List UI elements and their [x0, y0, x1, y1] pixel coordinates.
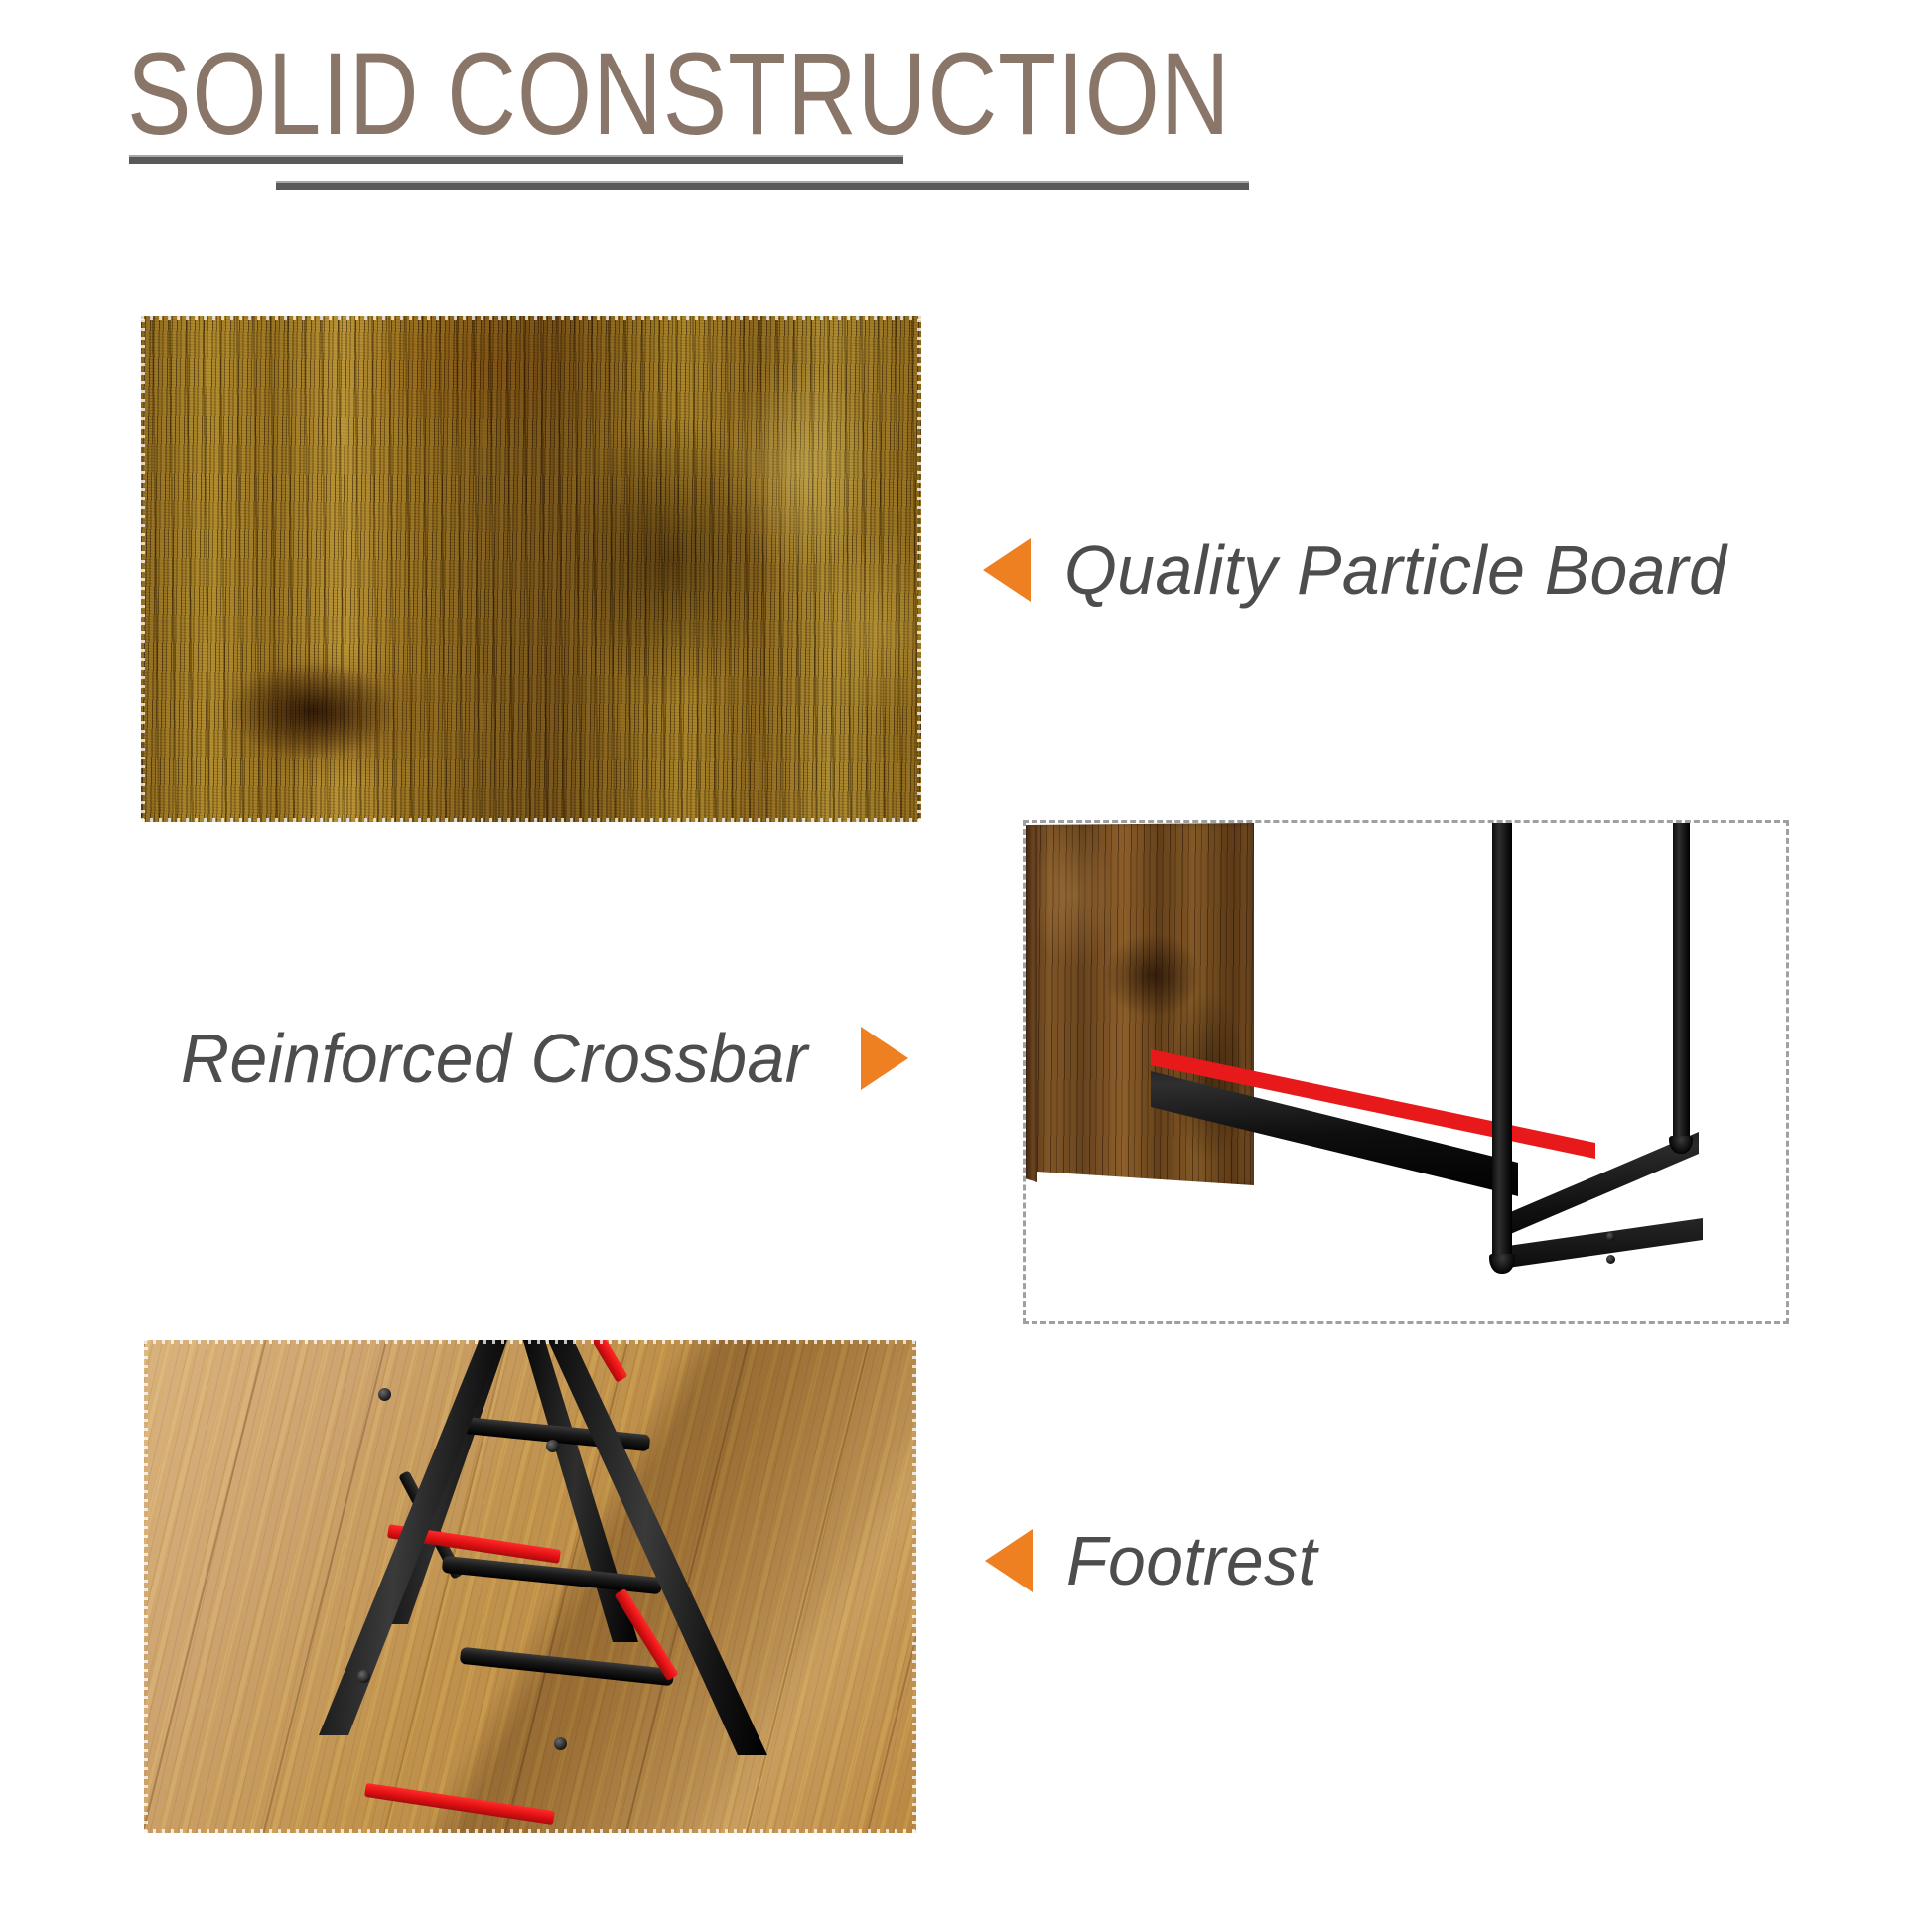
metal-leg-front: [1492, 823, 1512, 1257]
callout-label-quality-particle-board: Quality Particle Board: [1064, 530, 1726, 610]
callout-label-footrest: Footrest: [1066, 1521, 1317, 1600]
triangle-left-icon: [983, 538, 1031, 602]
screw-icon: [1606, 1232, 1615, 1241]
red-highlight-bar: [364, 1783, 555, 1825]
triangle-right-icon: [861, 1027, 908, 1090]
callout-footrest: Footrest: [985, 1521, 1325, 1600]
screw-icon: [378, 1388, 391, 1401]
callout-reinforced-crossbar: Reinforced Crossbar: [181, 1019, 908, 1098]
lower-rail-extension: [1508, 1218, 1703, 1282]
frame-diagram: [1023, 820, 1789, 1324]
callout-quality-particle-board: Quality Particle Board: [983, 530, 1747, 610]
triangle-left-icon: [985, 1529, 1033, 1592]
title-underline-secondary: [276, 181, 1249, 190]
screw-icon: [554, 1737, 567, 1750]
screw-icon: [1606, 1255, 1615, 1264]
infographic-page: SOLID CONSTRUCTION: [0, 0, 1932, 1932]
red-highlight-bar: [587, 1340, 627, 1383]
page-title: SOLID CONSTRUCTION: [127, 36, 1230, 153]
screw-icon: [357, 1670, 370, 1683]
metal-leg-back: [1673, 823, 1690, 1139]
wood-side-panel: [1028, 823, 1254, 1185]
screw-icon: [546, 1440, 559, 1452]
title-underline-primary: [129, 155, 903, 164]
wood-grain-photo: [141, 316, 921, 822]
footrest-rung: [460, 1647, 675, 1686]
wood-side-panel-edge: [1026, 825, 1037, 1182]
adjustable-leveling-foot: [1489, 1254, 1515, 1274]
frame-diagram-inner: [1026, 823, 1786, 1321]
footrest-photo: [144, 1340, 916, 1833]
footrest-photo-inner: [144, 1340, 916, 1833]
callout-label-reinforced-crossbar: Reinforced Crossbar: [181, 1019, 808, 1098]
stool-leg-front-right: [545, 1340, 767, 1769]
